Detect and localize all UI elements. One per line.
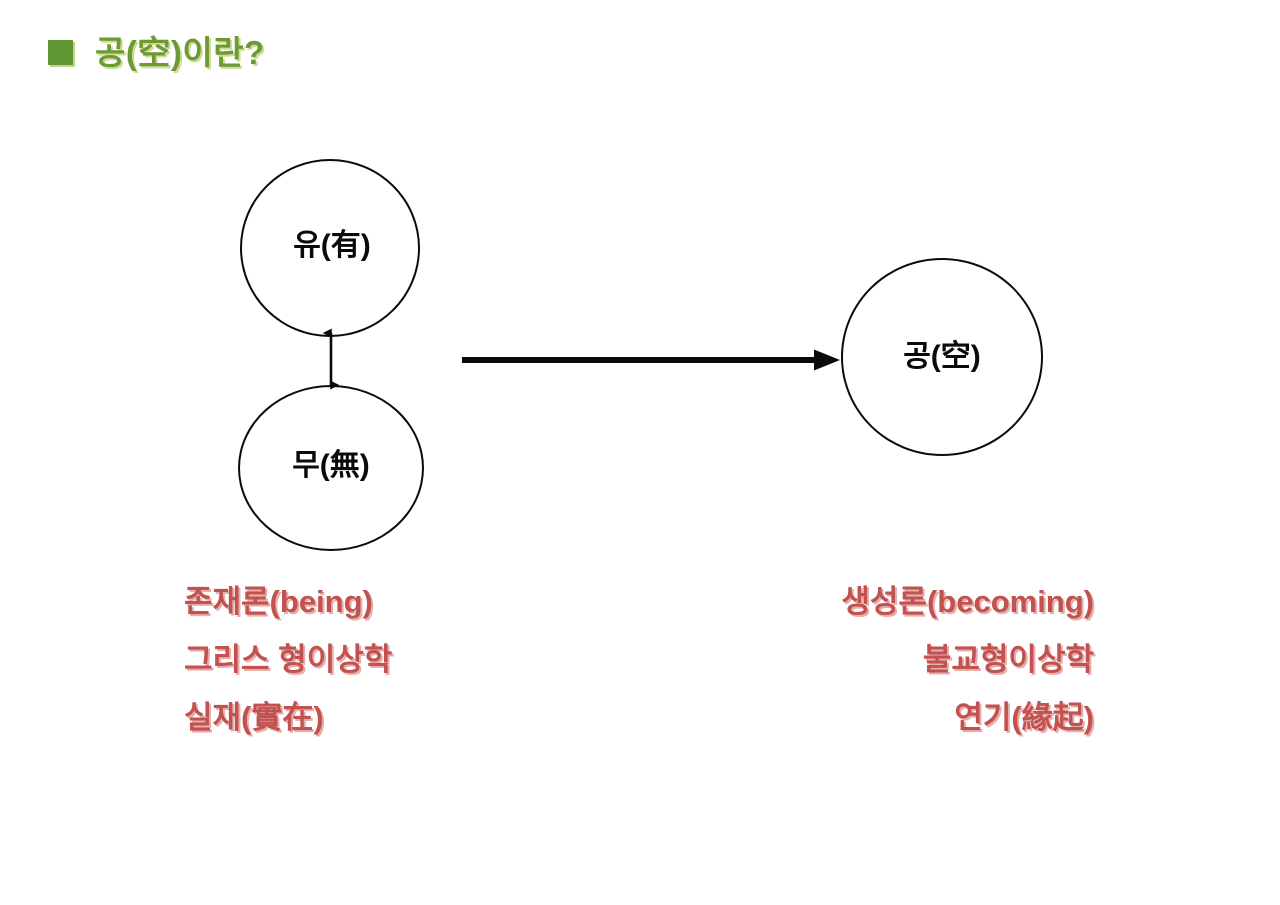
square-bullet-icon xyxy=(48,40,73,65)
caption-left-line-1: 존재론(being) xyxy=(184,573,392,631)
caption-left: 존재론(being) 그리스 형이상학 실재(實在) xyxy=(184,573,392,747)
caption-right-line-2: 불교형이상학 xyxy=(841,631,1094,689)
node-gong-label: 공(空) xyxy=(903,342,981,372)
slide-canvas: 공(空)이란? 유(有) 무(無) 공(空) 존재 xyxy=(0,0,1280,905)
double-headed-vertical-arrow-icon xyxy=(310,326,352,392)
node-gong-circle[interactable]: 공(空) xyxy=(841,258,1043,456)
title-label: 공(空)이란? xyxy=(95,36,265,69)
node-mu-circle[interactable]: 무(無) xyxy=(238,385,424,551)
caption-left-line-3: 실재(實在) xyxy=(184,689,392,747)
caption-right: 생성론(becoming) 불교형이상학 연기(緣起) xyxy=(841,573,1094,747)
caption-left-line-2: 그리스 형이상학 xyxy=(184,631,392,689)
node-mu-label: 무(無) xyxy=(292,451,370,481)
node-yu-label: 유(有) xyxy=(293,231,371,261)
page-title: 공(空)이란? xyxy=(48,36,265,69)
node-yu-circle[interactable]: 유(有) xyxy=(240,159,420,337)
caption-right-line-1: 생성론(becoming) xyxy=(841,573,1094,631)
caption-right-line-3: 연기(緣起) xyxy=(841,689,1094,747)
right-arrow-icon xyxy=(455,336,855,384)
